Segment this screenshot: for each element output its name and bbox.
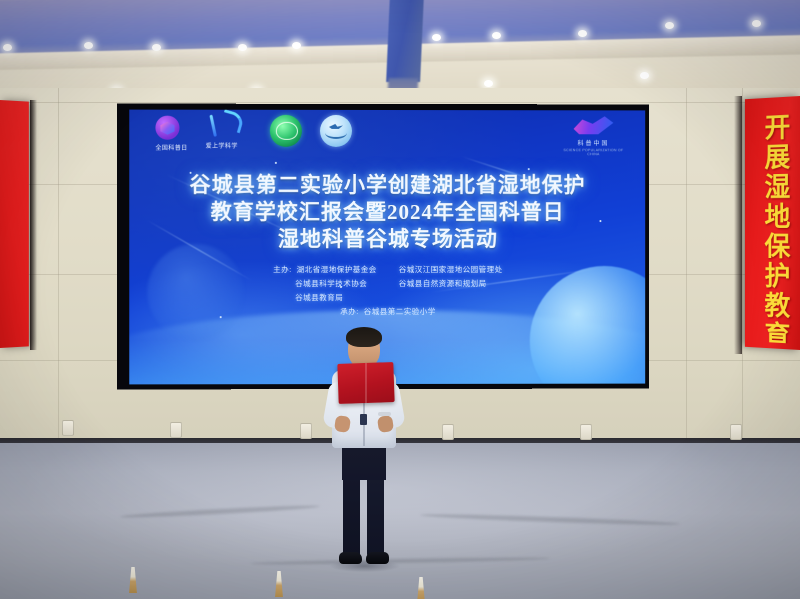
title-line-1: 谷城县第二实验小学创建湖北省湿地保护 (129, 172, 645, 199)
undertaker-row: 承办:谷城县第二实验小学 (129, 306, 645, 317)
downlight (665, 22, 674, 29)
downlight (578, 30, 587, 37)
love-science-logo: 爱上学科学 (202, 114, 242, 142)
downlight (292, 42, 301, 49)
science-china-logo: 科普中国 SCIENCE POPULARIZATION OF CHINA (562, 116, 626, 150)
national-science-day-logo: 全国科普日 (155, 116, 179, 140)
downlight (238, 44, 247, 51)
screen-logo-row: 全国科普日 爱上学科学 科普中国 SCIENCE POPULARIZATION … (129, 114, 645, 163)
logo-caption: 全国科普日 (155, 143, 179, 152)
host-org-5: 谷城县自然资源和规划局 (399, 277, 503, 291)
wall-outlet (580, 424, 592, 440)
leg-right (367, 476, 384, 556)
host-org-2: 谷城县科学技术协会 (273, 277, 377, 291)
screen-title-block: 谷城县第二实验小学创建湖北省湿地保护 教育学校汇报会暨2024年全国科普日 湿地… (129, 172, 645, 253)
downlight (492, 32, 501, 39)
organizer-block: 主办:湖北省湿地保护基金会 谷城县科学技术协会 谷城县教育局 谷城汉江国家湿地公… (129, 263, 645, 305)
organizer-column-right: 谷城汉江国家湿地公园管理处 谷城县自然资源和规划局 (399, 263, 503, 305)
host-line: 主办:湖北省湿地保护基金会 (273, 263, 377, 277)
downlight (84, 42, 93, 49)
shoe-right (366, 552, 389, 564)
wristwatch (378, 412, 391, 416)
downlight (484, 80, 493, 87)
downlight (3, 44, 12, 51)
swoosh-icon (202, 114, 242, 140)
host-label: 主办: (273, 265, 292, 274)
shoe-left (339, 552, 362, 564)
wetland-emblem-green-icon (270, 115, 302, 147)
host-org-4: 谷城汉江国家湿地公园管理处 (399, 263, 503, 277)
logo-caption: 爱上学科学 (202, 141, 242, 150)
downlight (152, 44, 161, 51)
title-line-3: 湿地科普谷城专场活动 (129, 226, 645, 253)
banner-left-shadow (30, 100, 37, 350)
wall-outlet (62, 420, 74, 436)
logo-subcaption: SCIENCE POPULARIZATION OF CHINA (562, 148, 626, 156)
cube-icon (155, 116, 179, 140)
organizer-column-left: 主办:湖北省湿地保护基金会 谷城县科学技术协会 谷城县教育局 (273, 263, 377, 305)
wall-outlet (442, 424, 454, 440)
wall-outlet (300, 423, 312, 439)
host-org-3: 谷城县教育局 (273, 291, 377, 305)
downlight (752, 20, 761, 27)
wall-outlet (730, 424, 742, 440)
ceiling (0, 0, 800, 96)
downlight (640, 72, 649, 79)
screen-star (528, 168, 530, 170)
presenter (318, 330, 410, 572)
leg-left (343, 476, 360, 556)
wetland-park-emblem-blue-icon (320, 115, 352, 147)
host-org-1: 湖北省湿地保护基金会 (297, 265, 377, 274)
undertaker-name: 谷城县第二实验小学 (364, 307, 436, 316)
title-line-2: 教育学校汇报会暨2024年全国科普日 (129, 199, 645, 226)
logo-caption: 科普中国 (562, 138, 626, 147)
banner-right-text: 开展湿地保护教育 (750, 112, 794, 343)
blue-column (386, 0, 424, 82)
downlight (432, 34, 441, 41)
bird-icon (329, 124, 343, 129)
wall-outlet (170, 422, 182, 438)
wing-icon (574, 116, 614, 134)
banner-right-shadow (734, 96, 742, 354)
auditorium-scene: 开展湿地保护教育 全国科普日 (0, 0, 800, 599)
screen-star (275, 162, 277, 164)
chest-badge (360, 414, 367, 425)
banner-right: 开展湿地保护教育 (745, 96, 800, 350)
undertaker-label: 承办: (340, 307, 359, 316)
hair (346, 327, 382, 347)
folder-crease (365, 363, 367, 403)
banner-left (0, 100, 29, 348)
